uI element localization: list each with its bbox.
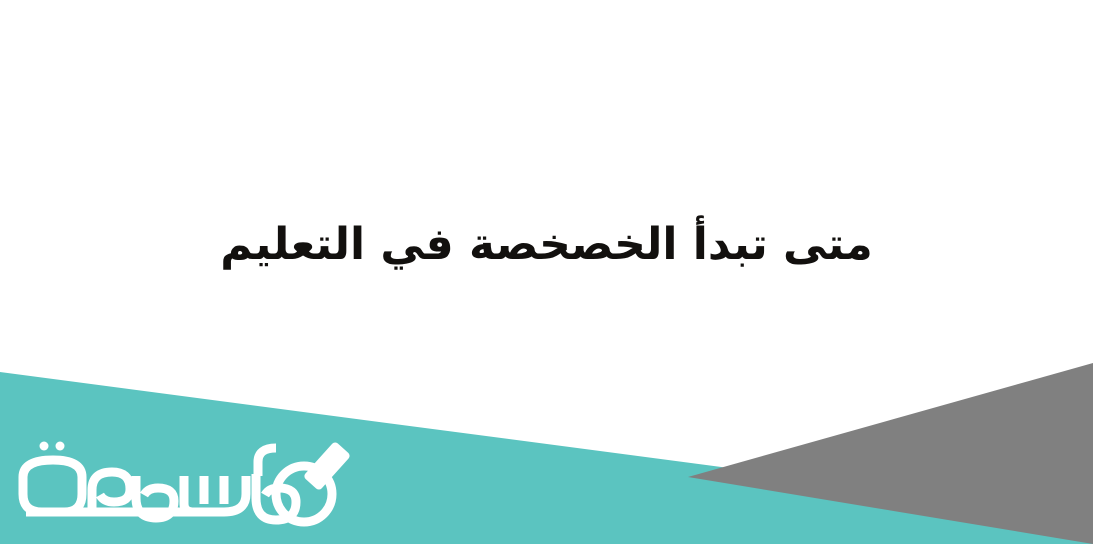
page-title: متى تبدأ الخصخصة في التعليم (220, 217, 873, 272)
gray-triangle (688, 363, 1093, 544)
magnifier-icon (276, 441, 351, 522)
ta-marbuta-dots (40, 442, 65, 451)
brand-logo (8, 432, 356, 536)
logo-wordmark-strokes (23, 448, 296, 520)
slide-canvas: متى تبدأ الخصخصة في التعليم (0, 0, 1093, 544)
headline-block: متى تبدأ الخصخصة في التعليم (0, 196, 1093, 292)
